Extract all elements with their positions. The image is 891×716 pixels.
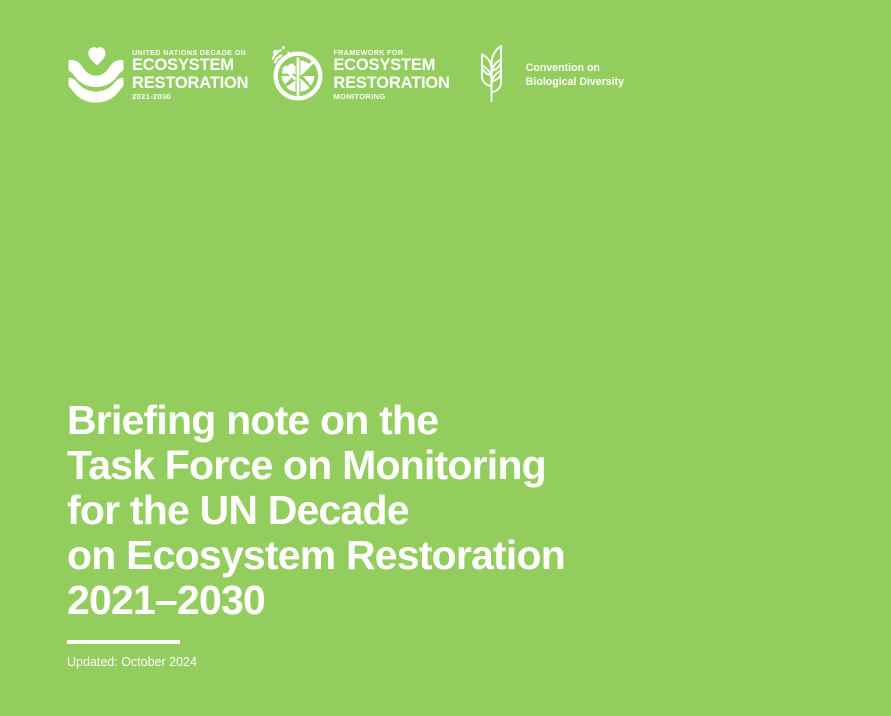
- title-divider-rule: [67, 640, 180, 644]
- logo-un-decade-text: UNITED NATIONS DECADE ON ECOSYSTEM RESTO…: [132, 48, 248, 102]
- updated-date: Updated: October 2024: [67, 654, 197, 670]
- logo-un-decade: UNITED NATIONS DECADE ON ECOSYSTEM RESTO…: [67, 44, 248, 106]
- cover-page: UNITED NATIONS DECADE ON ECOSYSTEM RESTO…: [0, 0, 891, 716]
- title-line-5: 2021–2030: [67, 578, 707, 623]
- title-line-3: for the UN Decade: [67, 488, 707, 533]
- logo-un-decade-years: 2021-2030: [132, 92, 248, 102]
- leaf-heart-arcs-icon: [67, 43, 125, 108]
- logo-ferm-text: FRAMEWORK FOR ECOSYSTEM RESTORATION MONI…: [333, 48, 449, 102]
- logo-un-decade-line1: ECOSYSTEM: [132, 57, 248, 75]
- cbd-plant-leaves-icon: [466, 44, 516, 107]
- page-title: Briefing note on the Task Force on Monit…: [67, 398, 707, 623]
- logo-cbd-text: Convention on Biological Diversity: [526, 61, 624, 89]
- ferm-circle-leaf-icon: [266, 43, 326, 108]
- logo-ferm: FRAMEWORK FOR ECOSYSTEM RESTORATION MONI…: [266, 44, 449, 106]
- logo-cbd-line2: Biological Diversity: [526, 76, 624, 88]
- logo-ferm-monitoring: MONITORING: [333, 92, 449, 102]
- logo-ferm-line1: ECOSYSTEM: [333, 57, 449, 75]
- logo-un-decade-line2: RESTORATION: [132, 75, 248, 93]
- logo-ferm-line2: RESTORATION: [333, 75, 449, 93]
- title-line-4: on Ecosystem Restoration: [67, 533, 707, 578]
- logo-cbd: Convention on Biological Diversity: [466, 44, 624, 106]
- title-line-1: Briefing note on the: [67, 398, 707, 443]
- logo-cbd-line1: Convention on: [526, 62, 600, 74]
- logo-row: UNITED NATIONS DECADE ON ECOSYSTEM RESTO…: [67, 44, 624, 106]
- title-line-2: Task Force on Monitoring: [67, 443, 707, 488]
